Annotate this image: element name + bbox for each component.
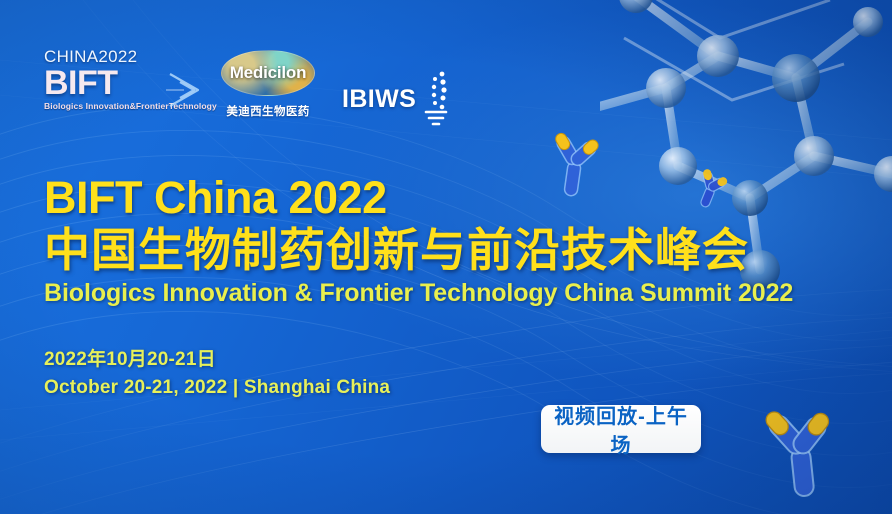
- title-chinese: 中国生物制药创新与前沿技术峰会: [44, 226, 793, 276]
- logo-row: CHINA2022 BIFT Biologics Innovation&Fron…: [44, 48, 450, 128]
- bift-arrow-mark-icon: [164, 70, 210, 110]
- bift-logo: CHINA2022 BIFT Biologics Innovation&Fron…: [44, 48, 194, 111]
- medicilon-wordmark: Medicilon: [222, 51, 314, 95]
- antibody-icon: [747, 395, 857, 509]
- dna-dot-helix-icon: [420, 70, 450, 128]
- event-date-chinese: 2022年10月20-21日: [44, 346, 390, 374]
- event-dates-block: 2022年10月20-21日 October 20-21, 2022 | Sha…: [44, 346, 390, 401]
- title-english: BIFT China 2022: [44, 175, 793, 220]
- medicilon-logo: Medicilon 美迪西生物医药: [220, 48, 316, 119]
- ibiws-logo: IBIWS: [342, 48, 450, 128]
- ibiws-wordmark: IBIWS: [342, 85, 416, 114]
- event-date-english: October 20-21, 2022 | Shanghai China: [44, 374, 390, 402]
- headline-block: BIFT China 2022 中国生物制药创新与前沿技术峰会 Biologic…: [44, 175, 793, 307]
- medicilon-oval-emblem: Medicilon: [221, 50, 315, 96]
- medicilon-chinese-name: 美迪西生物医药: [220, 103, 316, 119]
- bift-china-label: CHINA2022: [44, 48, 194, 65]
- video-replay-morning-button[interactable]: 视频回放-上午场: [541, 405, 701, 453]
- event-promo-banner: CHINA2022 BIFT Biologics Innovation&Fron…: [0, 0, 892, 514]
- subtitle-english: Biologics Innovation & Frontier Technolo…: [44, 280, 793, 308]
